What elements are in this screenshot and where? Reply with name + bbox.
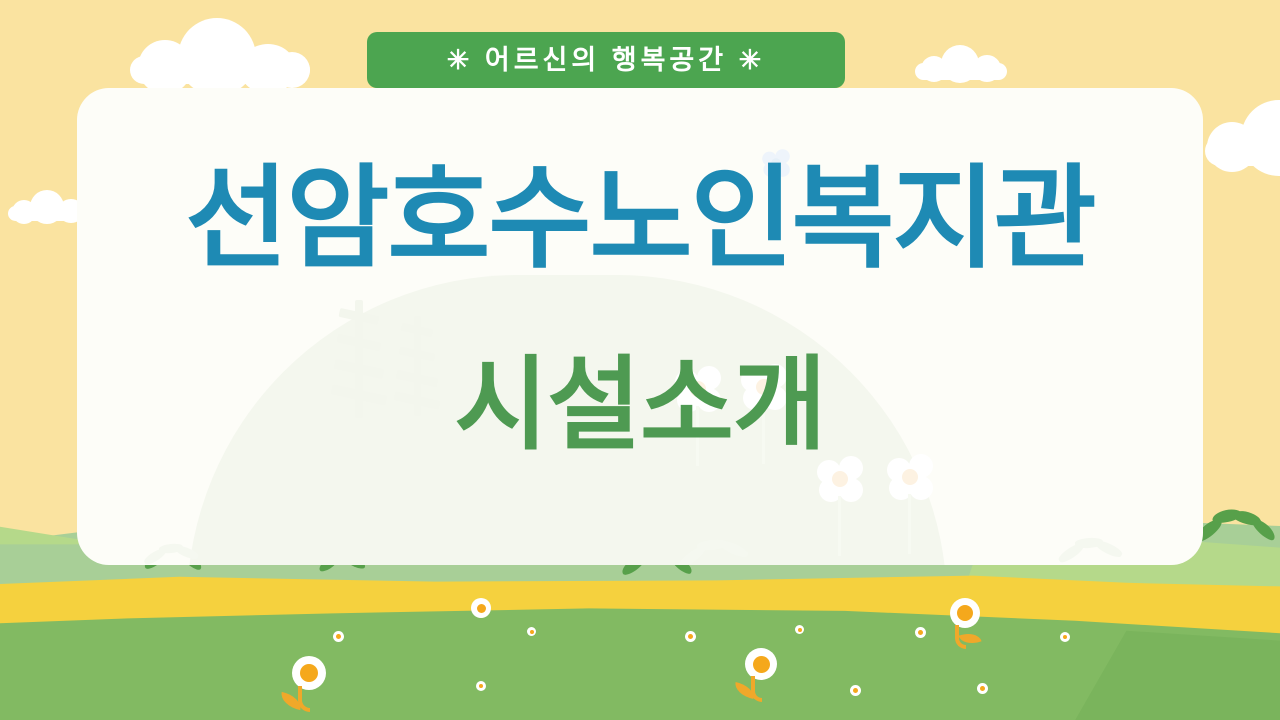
- flower-dot-f: [850, 685, 861, 696]
- tagline-badge: ✳ 어르신의 행복공간 ✳: [367, 32, 845, 88]
- grass-watermark: [1057, 534, 1137, 565]
- flower-watermark: [887, 454, 933, 500]
- flower-dot-d: [685, 631, 696, 642]
- flower-large-right: [950, 598, 998, 652]
- cloud-top-right: [915, 45, 1007, 81]
- grass-watermark: [677, 536, 767, 565]
- flower-dot-b: [333, 631, 344, 642]
- flower-dot-h: [977, 683, 988, 694]
- field-yellow-band: [0, 560, 1280, 680]
- cloud-top-left: [130, 18, 310, 88]
- flower-watermark: [817, 456, 863, 502]
- flower-large-left: [292, 656, 344, 712]
- flower-large-mid: [745, 648, 795, 704]
- flower-dot-i: [476, 681, 486, 691]
- page-subtitle-container: 시설소개: [0, 352, 1280, 459]
- meadow-foreground: [0, 596, 1280, 720]
- page-title: 선암호수노인복지관: [0, 160, 1280, 278]
- meadow-right-wedge: [0, 596, 1280, 720]
- page-title-container: 선암호수노인복지관: [0, 160, 1280, 278]
- flower-dot-e: [795, 625, 804, 634]
- flower-dot-g: [915, 627, 926, 638]
- flower-small-a: [471, 598, 491, 618]
- page-subtitle: 시설소개: [0, 352, 1280, 459]
- grass-watermark: [143, 540, 213, 565]
- flower-dot-j: [1060, 632, 1070, 642]
- flower-dot-c: [527, 627, 536, 636]
- tagline-badge-label: ✳ 어르신의 행복공간 ✳: [447, 47, 765, 74]
- grass-tuft-right-edge: [1194, 508, 1280, 548]
- title-card-canvas: ✳ 어르신의 행복공간 ✳ 선암호수노인복지관 시설소개: [0, 0, 1280, 720]
